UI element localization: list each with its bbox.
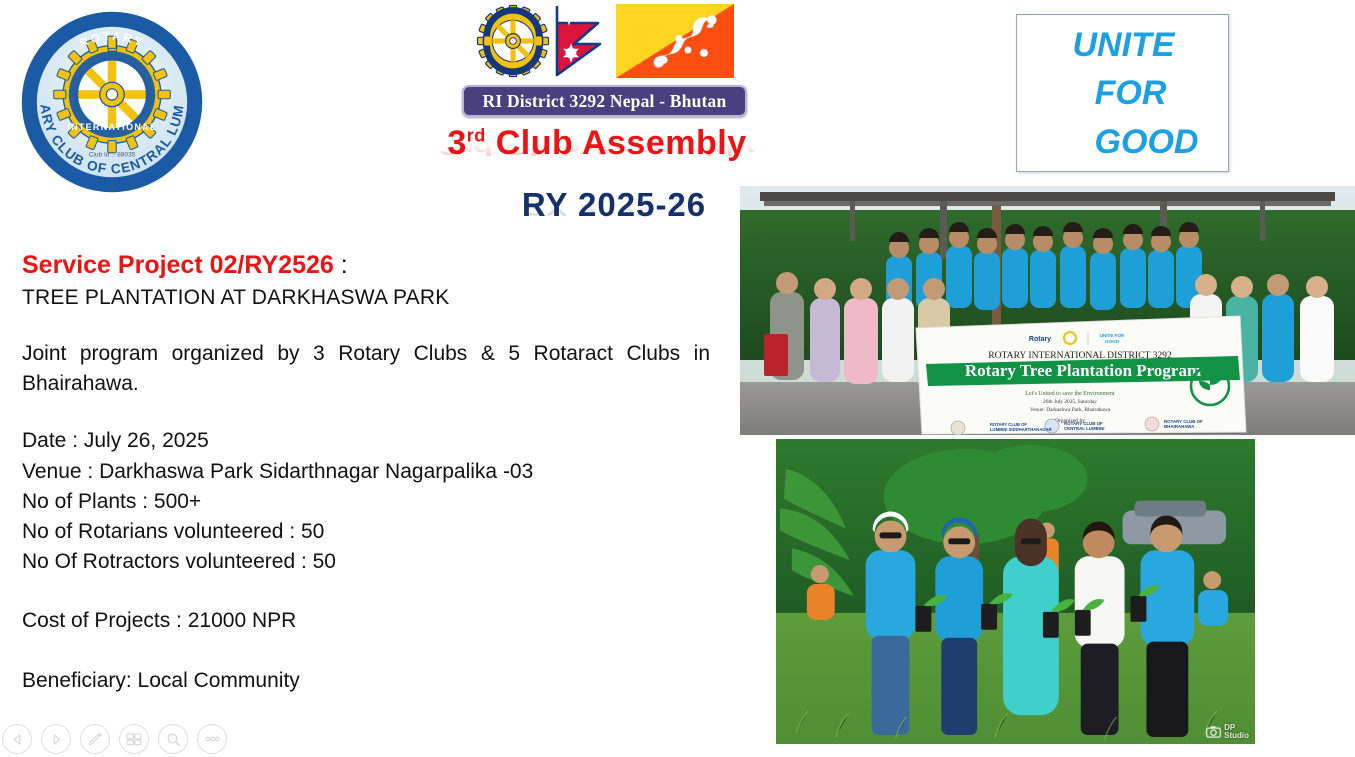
title-sub-text: RY 2025-26 xyxy=(522,188,706,221)
project-cost: Cost of Projects : 21000 NPR xyxy=(22,606,712,636)
fact-plants: No of Plants : 500+ xyxy=(22,487,712,517)
slideshow-toolbar[interactable] xyxy=(2,724,227,754)
svg-text:26th July 2025, Saturday: 26th July 2025, Saturday xyxy=(1043,399,1097,405)
unite-for-good-box: UNITE FOR GOOD xyxy=(1016,14,1229,172)
nepal-flag-icon xyxy=(554,4,612,78)
district-name-bar: RI District 3292 Nepal - Bhutan xyxy=(462,85,747,117)
svg-text:CENTRAL LUMBINI: CENTRAL LUMBINI xyxy=(1064,426,1104,431)
more-options-button[interactable] xyxy=(197,724,227,754)
slide-grid-icon xyxy=(126,732,142,746)
title-line-main: 3rd Club Assembly 3rd Club Assembly xyxy=(394,126,800,192)
unite-text: UNITE xyxy=(1017,21,1228,69)
sapling-handover-photo: DP Studio xyxy=(775,438,1256,745)
zoom-button[interactable] xyxy=(158,724,188,754)
presentation-slide: ROTARY INTERNATIONAL ROTARY CLUB OF CENT… xyxy=(0,0,1355,757)
svg-text:GOOD: GOOD xyxy=(1105,339,1120,344)
for-text: FOR xyxy=(1017,69,1228,117)
more-options-icon xyxy=(204,735,221,743)
project-facts-list: Date : July 26, 2025 Venue : Darkhaswa P… xyxy=(22,426,712,577)
emblem-club-id-text: Club Id :- 88035 xyxy=(89,152,136,159)
fact-rotarians: No of Rotarians volunteered : 50 xyxy=(22,517,712,547)
project-beneficiary: Beneficiary: Local Community xyxy=(22,666,712,696)
svg-text:UNITE FOR: UNITE FOR xyxy=(1100,333,1125,338)
pen-tool-button[interactable] xyxy=(80,724,110,754)
good-text: GOOD xyxy=(1017,118,1228,166)
svg-text:Let's United to save the Envir: Let's United to save the Environment xyxy=(1025,391,1115,397)
district-flags-row xyxy=(462,4,747,82)
district-header: RI District 3292 Nepal - Bhutan xyxy=(462,4,747,119)
svg-text:LUMBINI SIDDHARTHANAGAR: LUMBINI SIDDHARTHANAGAR xyxy=(990,427,1052,432)
bhutan-flag-icon xyxy=(616,4,734,78)
watermark-line-2: Studio xyxy=(1224,732,1249,740)
fact-date: Date : July 26, 2025 xyxy=(22,426,712,456)
dp-studio-watermark: DP Studio xyxy=(1206,724,1249,740)
all-slides-button[interactable] xyxy=(119,724,149,754)
project-title: TREE PLANTATION AT DARKHASWA PARK xyxy=(22,284,712,311)
emblem-international-text: INTERNATIONAL xyxy=(67,122,156,132)
svg-text:Venue: Darkashwa Park, Bhairah: Venue: Darkashwa Park, Bhairahawa xyxy=(1030,407,1111,413)
project-description: Joint program organized by 3 Rotary Club… xyxy=(22,339,710,399)
svg-text:Rotary Tree Plantation Program: Rotary Tree Plantation Program xyxy=(965,361,1201,380)
previous-slide-button[interactable] xyxy=(2,724,32,754)
rotary-wheel-icon xyxy=(476,4,550,78)
tree-plantation-banner: Rotary UNITE FOR GOOD ROTARY INTERNATION… xyxy=(916,316,1246,435)
fact-venue: Venue : Darkhaswa Park Sidarthnagar Naga… xyxy=(22,457,712,487)
project-heading: Service Project 02/RY2526 : xyxy=(22,250,712,282)
pen-icon xyxy=(87,731,103,747)
svg-text:Rotary: Rotary xyxy=(1029,336,1051,343)
title-main-text: 3rd Club Assembly xyxy=(447,126,746,160)
district-name-text: RI District 3292 Nepal - Bhutan xyxy=(483,91,727,112)
previous-slide-icon xyxy=(11,733,24,746)
rotary-club-emblem: ROTARY INTERNATIONAL ROTARY CLUB OF CENT… xyxy=(18,8,206,196)
next-slide-button[interactable] xyxy=(41,724,71,754)
project-colon: : xyxy=(334,251,348,279)
svg-text:BHAIRAHAWA: BHAIRAHAWA xyxy=(1164,424,1195,429)
project-label: Service Project 02/RY2526 xyxy=(22,251,334,279)
group-photo-with-banner: Rotary UNITE FOR GOOD ROTARY INTERNATION… xyxy=(740,186,1355,435)
zoom-icon xyxy=(166,732,181,747)
fact-rotractors: No Of Rotractors volunteered : 50 xyxy=(22,547,712,577)
camera-icon xyxy=(1206,725,1221,738)
next-slide-icon xyxy=(50,733,63,746)
slide-body: Service Project 02/RY2526 : TREE PLANTAT… xyxy=(22,250,712,696)
